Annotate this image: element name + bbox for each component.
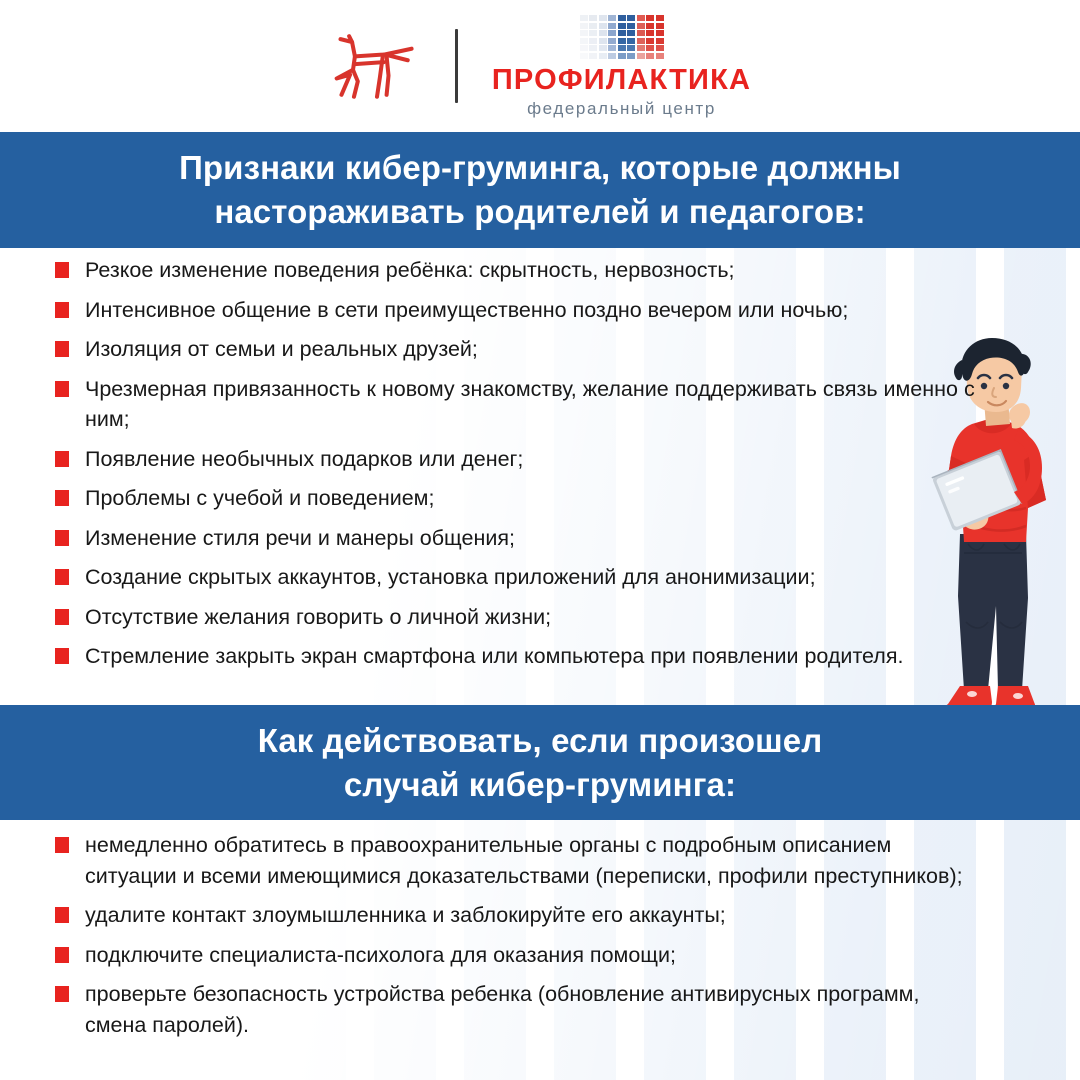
- list-item-text: Чрезмерная привязанность к новому знаком…: [85, 374, 985, 435]
- list-item: подключите специалиста-психолога для ока…: [55, 940, 1005, 971]
- list-item: Отсутствие желания говорить о личной жиз…: [55, 602, 1005, 633]
- list-item-text: Создание скрытых аккаунтов, установка пр…: [85, 562, 816, 593]
- list-item: проверьте безопасность устройства ребенк…: [55, 979, 1005, 1040]
- section2-banner-line2: случай кибер-груминга:: [344, 766, 736, 803]
- section2-banner-line1: Как действовать, если произошел: [258, 722, 823, 759]
- bullet-square-icon: [55, 648, 69, 664]
- list-item: немедленно обратитесь в правоохранительн…: [55, 830, 1005, 891]
- bullet-square-icon: [55, 609, 69, 625]
- bullet-square-icon: [55, 986, 69, 1002]
- list-item: удалите контакт злоумышленника и заблоки…: [55, 900, 1005, 931]
- section1-banner-title: Признаки кибер-груминга, которые должны …: [119, 146, 961, 233]
- bullet-square-icon: [55, 569, 69, 585]
- section1-banner-line2: настораживать родителей и педагогов:: [214, 193, 865, 230]
- infographic-page: ПРОФИЛАКТИКА федеральный центр: [0, 0, 1080, 1080]
- bullet-square-icon: [55, 381, 69, 397]
- list-item-text: подключите специалиста-психолога для ока…: [85, 940, 676, 971]
- section1-banner: Признаки кибер-груминга, которые должны …: [0, 132, 1080, 248]
- list-item-text: Резкое изменение поведения ребёнка: скры…: [85, 255, 735, 286]
- list-item-text: проверьте безопасность устройства ребенк…: [85, 979, 980, 1040]
- list-item: Проблемы с учебой и поведением;: [55, 483, 1005, 514]
- bullet-square-icon: [55, 341, 69, 357]
- section2-list: немедленно обратитесь в правоохранительн…: [0, 830, 1005, 1049]
- list-item: Стремление закрыть экран смартфона или к…: [55, 641, 1005, 672]
- horse-line-mark-icon: [329, 27, 425, 105]
- list-item-text: Изменение стиля речи и манеры общения;: [85, 523, 515, 554]
- brand-subtitle: федеральный центр: [527, 100, 716, 117]
- section1-banner-line1: Признаки кибер-груминга, которые должны: [179, 149, 901, 186]
- list-item-text: Отсутствие желания говорить о личной жиз…: [85, 602, 551, 633]
- header-logo-bar: ПРОФИЛАКТИКА федеральный центр: [0, 0, 1080, 132]
- list-item: Резкое изменение поведения ребёнка: скры…: [55, 255, 1005, 286]
- section1-list: Резкое изменение поведения ребёнка: скры…: [0, 255, 1005, 681]
- logo-row: ПРОФИЛАКТИКА федеральный центр: [329, 15, 751, 117]
- list-item-text: Стремление закрыть экран смартфона или к…: [85, 641, 903, 672]
- list-item: Интенсивное общение в сети преимуществен…: [55, 295, 1005, 326]
- bullet-square-icon: [55, 530, 69, 546]
- list-item-text: Изоляция от семьи и реальных друзей;: [85, 334, 478, 365]
- list-item: Чрезмерная привязанность к новому знаком…: [55, 374, 1005, 435]
- bullet-square-icon: [55, 907, 69, 923]
- bullet-square-icon: [55, 490, 69, 506]
- list-item: Изоляция от семьи и реальных друзей;: [55, 334, 1005, 365]
- pixel-grid-logo-icon: [580, 15, 664, 59]
- bullet-square-icon: [55, 451, 69, 467]
- list-item: Изменение стиля речи и манеры общения;: [55, 523, 1005, 554]
- list-item: Появление необычных подарков или денег;: [55, 444, 1005, 475]
- section2-banner: Как действовать, если произошел случай к…: [0, 705, 1080, 820]
- list-item-text: немедленно обратитесь в правоохранительн…: [85, 830, 980, 891]
- bullet-square-icon: [55, 837, 69, 853]
- bullet-square-icon: [55, 947, 69, 963]
- bullet-square-icon: [55, 302, 69, 318]
- brand-name: ПРОФИЛАКТИКА: [492, 66, 751, 95]
- list-item-text: удалите контакт злоумышленника и заблоки…: [85, 900, 726, 931]
- list-item-text: Появление необычных подарков или денег;: [85, 444, 523, 475]
- list-item-text: Проблемы с учебой и поведением;: [85, 483, 434, 514]
- brand-block: ПРОФИЛАКТИКА федеральный центр: [492, 15, 751, 117]
- list-item: Создание скрытых аккаунтов, установка пр…: [55, 562, 1005, 593]
- logo-divider: [455, 29, 458, 103]
- list-item-text: Интенсивное общение в сети преимуществен…: [85, 295, 848, 326]
- bullet-square-icon: [55, 262, 69, 278]
- section2-banner-title: Как действовать, если произошел случай к…: [198, 719, 883, 806]
